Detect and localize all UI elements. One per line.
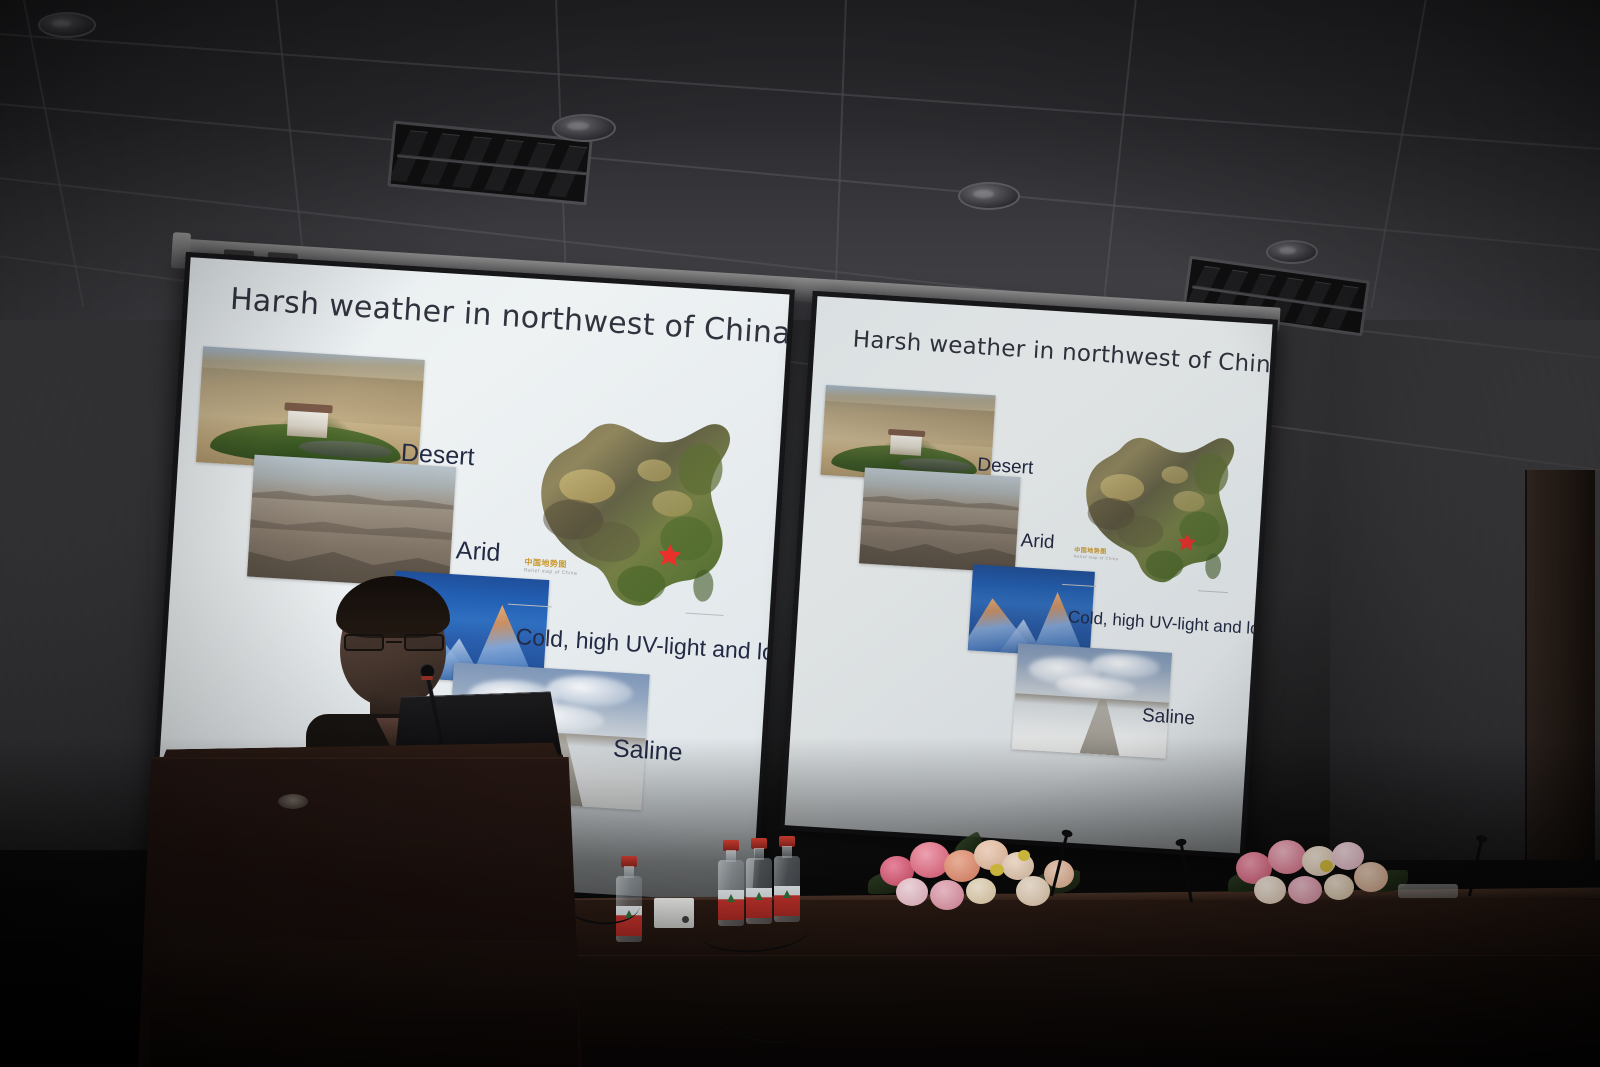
conference-hall-scene: Harsh weather in northwest of China Dese… — [0, 0, 1600, 1067]
desk-device — [654, 898, 694, 928]
photo-saline — [1012, 643, 1172, 758]
label-saline: Saline — [1141, 705, 1195, 730]
photo-desert — [196, 346, 425, 476]
lectern-base — [150, 940, 578, 1067]
presenter-glasses — [344, 634, 444, 651]
presenter-hair — [336, 576, 450, 638]
map-caption: 中国地势图 Relief map of China — [524, 557, 578, 577]
lectern-emblem — [278, 794, 308, 809]
slide-title: Harsh weather in northwest of China — [852, 326, 1273, 379]
name-plate — [1398, 884, 1458, 898]
slide-right: Harsh weather in northwest of China Dese… — [785, 296, 1273, 853]
label-arid: Arid — [455, 536, 501, 568]
map-caption: 中国地势图 Relief map of China — [1074, 545, 1119, 562]
floral-arrangement-center — [866, 820, 1086, 920]
label-cold-text: Cold, high UV-light and low O — [1068, 607, 1273, 640]
label-arid: Arid — [1020, 530, 1055, 554]
china-relief-map — [505, 386, 769, 633]
photo-arid — [859, 467, 1021, 572]
slide-title: Harsh weather in northwest of China — [229, 282, 789, 352]
recessed-downlight — [552, 114, 616, 142]
label-cold: Cold, high UV-light and low O2 — [1067, 607, 1272, 642]
water-bottle — [774, 836, 800, 922]
side-door — [1525, 470, 1595, 860]
label-saline: Saline — [612, 734, 683, 767]
recessed-downlight — [958, 182, 1020, 210]
right-projection-screen[interactable]: ScreenPlus Harsh weather in northwest of… — [779, 291, 1278, 859]
china-relief-map — [1058, 408, 1265, 604]
recessed-downlight — [38, 12, 96, 38]
photo-arid — [247, 455, 456, 589]
floral-arrangement-right — [1228, 818, 1408, 914]
recessed-downlight — [1266, 240, 1318, 264]
